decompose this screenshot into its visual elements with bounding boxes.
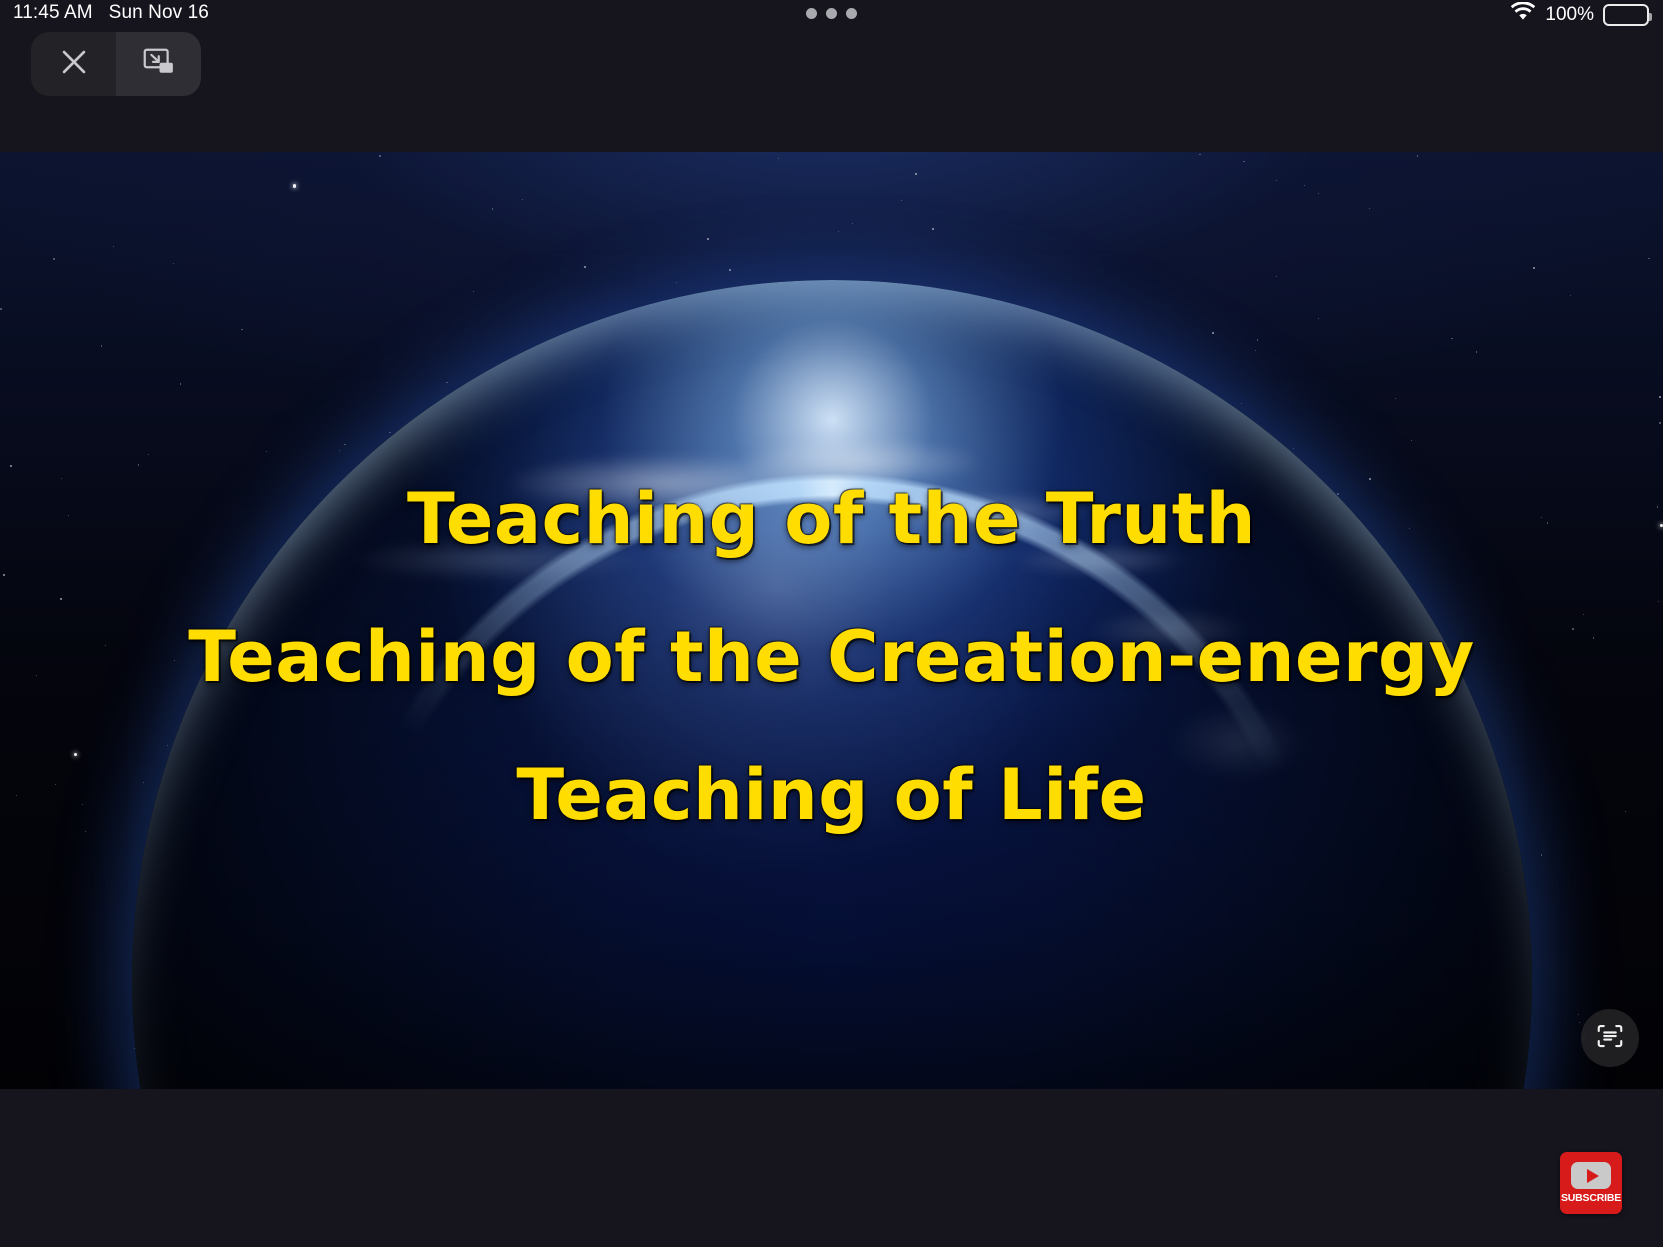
live-text-scan-icon	[1595, 1021, 1625, 1056]
three-dots-multitasking-icon	[806, 8, 817, 19]
video-player[interactable]: Teaching of the Truth Teaching of the Cr…	[0, 152, 1663, 1089]
play-triangle-icon	[1587, 1169, 1599, 1183]
app-bottom-chrome	[0, 1089, 1663, 1247]
battery-full-icon	[1603, 4, 1649, 26]
three-dots-multitasking-icon	[846, 8, 857, 19]
youtube-play-icon	[1571, 1162, 1611, 1189]
picture-in-picture-icon	[142, 47, 176, 82]
ipad-screen: Teaching of the Truth Teaching of the Cr…	[0, 0, 1663, 1247]
close-button[interactable]	[31, 32, 116, 96]
picture-in-picture-button[interactable]	[116, 32, 201, 96]
youtube-subscribe-badge[interactable]: SUBSCRIBE	[1560, 1152, 1622, 1214]
close-x-icon	[57, 45, 91, 84]
battery-percent-label: 100%	[1545, 4, 1594, 26]
wifi-icon	[1510, 2, 1536, 27]
live-text-button[interactable]	[1581, 1009, 1639, 1067]
earth-terminator-shadow	[132, 280, 1532, 1089]
multitasking-control[interactable]	[0, 8, 1663, 19]
battery-nub	[1649, 13, 1652, 21]
status-bar: 11:45 AM Sun Nov 16 100%	[0, 0, 1663, 32]
window-controls-pill	[31, 32, 201, 96]
subscribe-label: SUBSCRIBE	[1561, 1192, 1621, 1204]
earth-graphic	[0, 152, 1663, 1089]
status-bar-right: 100%	[1510, 2, 1649, 27]
three-dots-multitasking-icon	[826, 8, 837, 19]
